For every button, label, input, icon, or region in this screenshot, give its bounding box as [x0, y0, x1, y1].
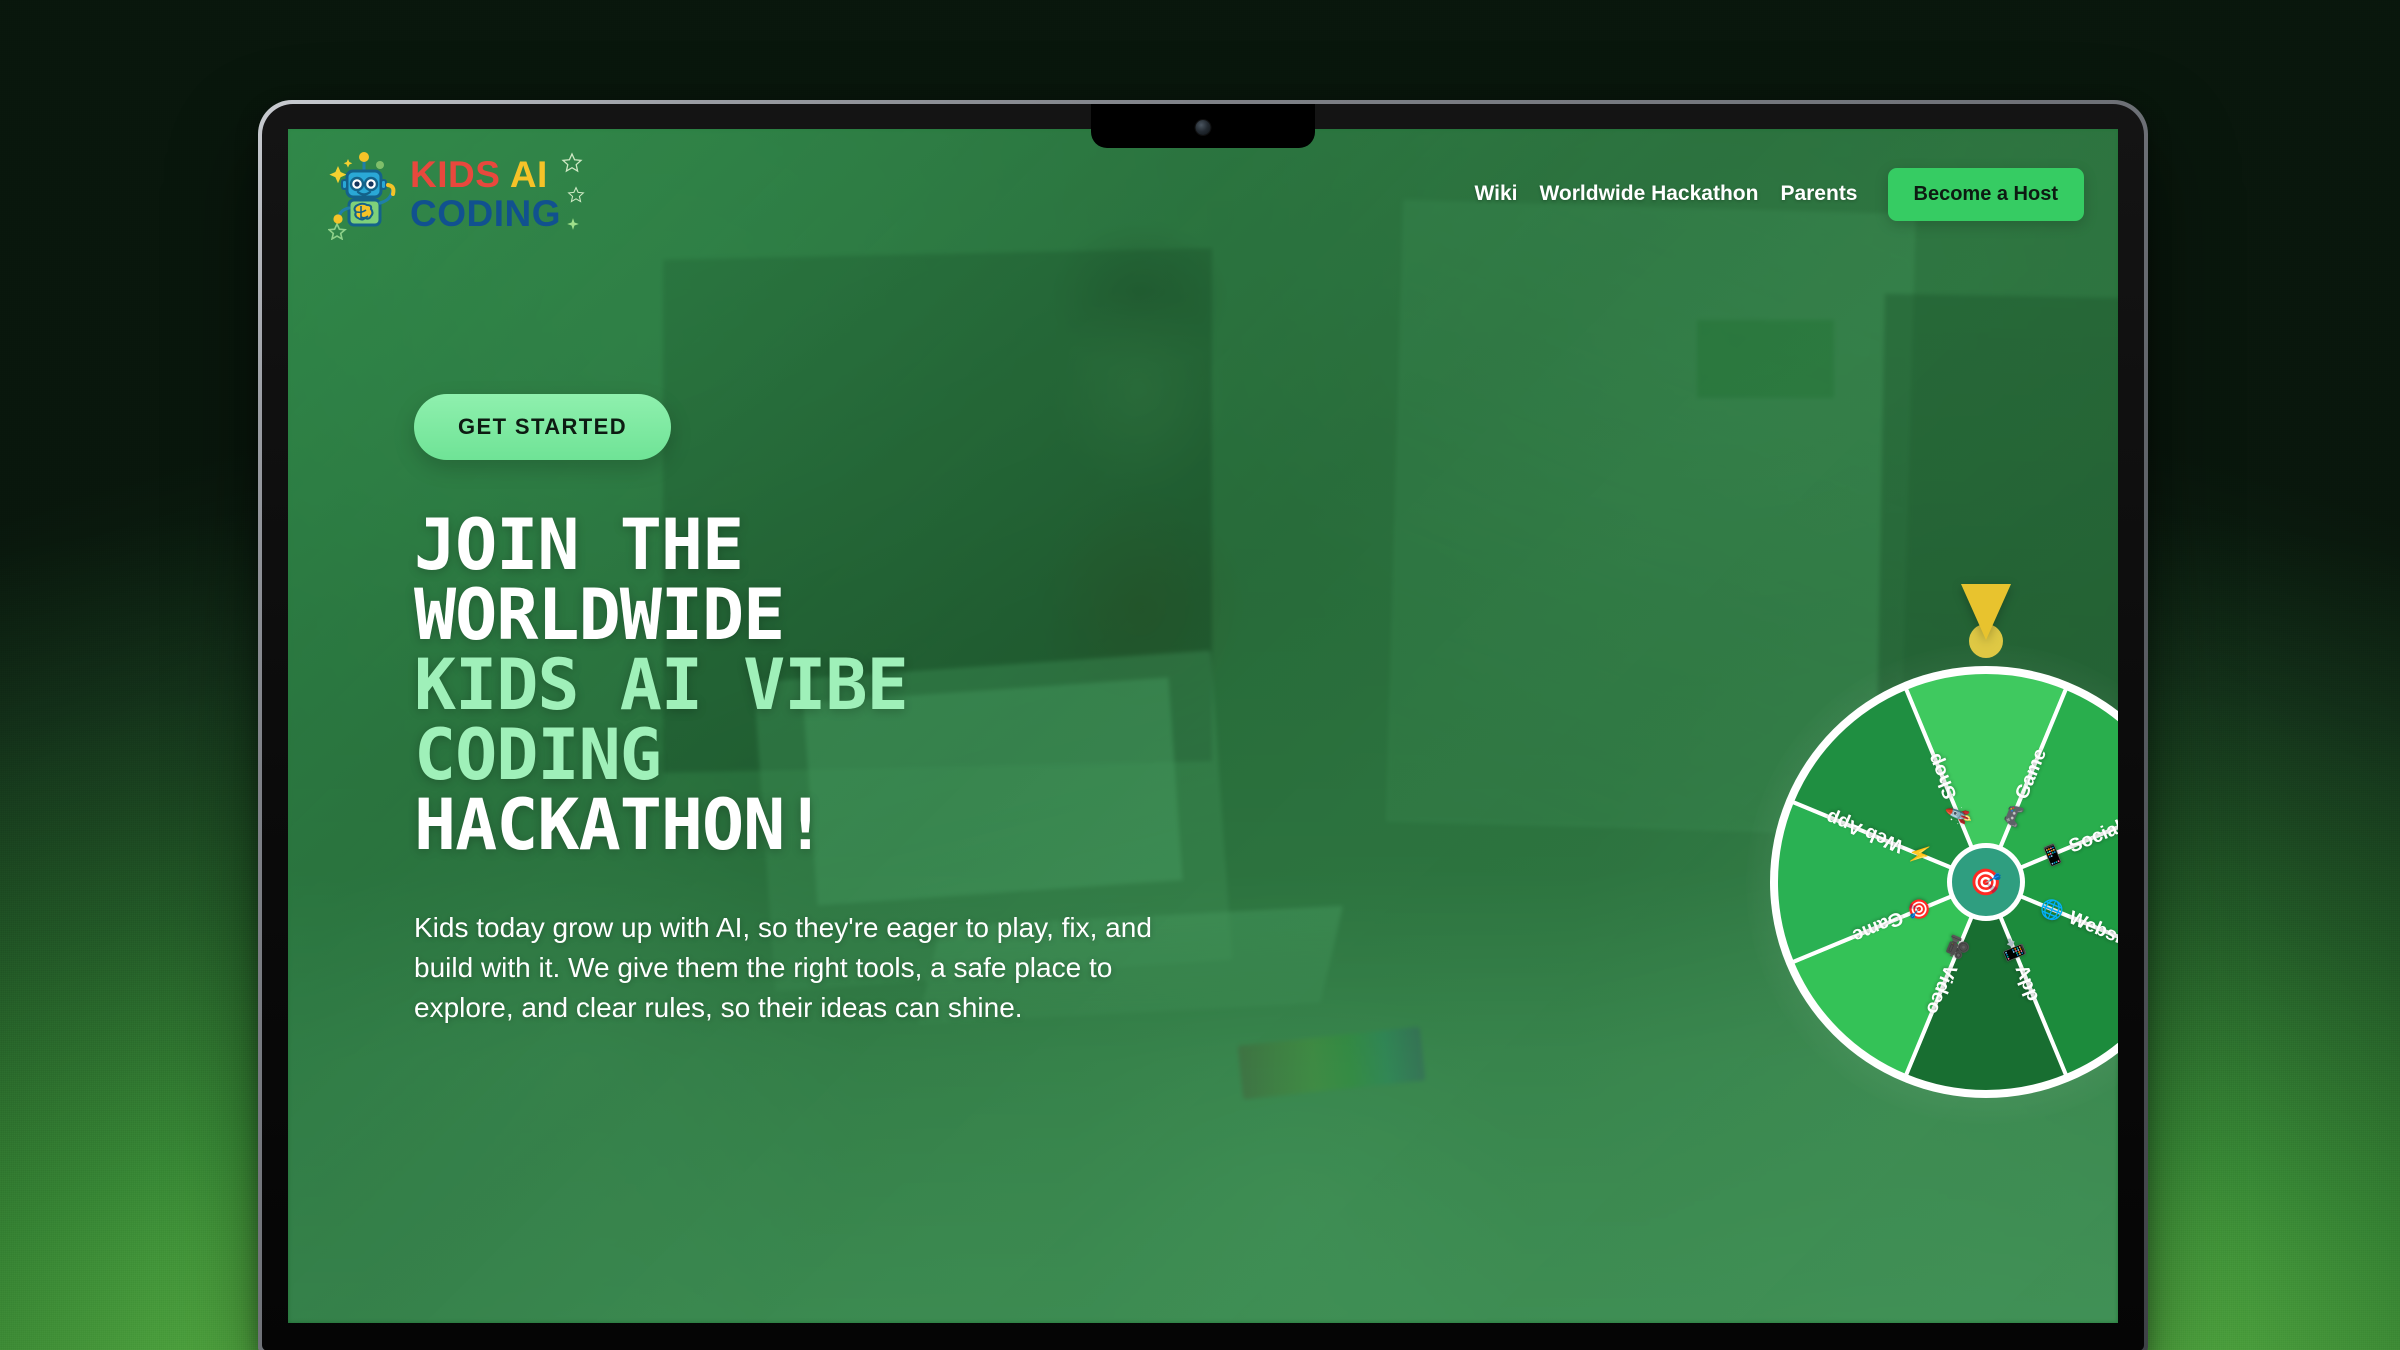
headline-line-5: HACKATHON! [414, 790, 1244, 860]
nav-link-worldwide-hackathon[interactable]: Worldwide Hackathon [1539, 182, 1758, 206]
brand-text-ai: AI [510, 154, 548, 195]
wheel-hub[interactable]: 🎯 [1947, 843, 2025, 921]
camera-dot-icon [1196, 120, 1211, 135]
nav-link-parents[interactable]: Parents [1780, 182, 1857, 206]
headline-line-2: WORLDWIDE [414, 580, 1244, 650]
laptop-notch [1091, 104, 1315, 148]
brand-text-kids: KIDS [410, 154, 500, 195]
brand-wordmark: KIDS AI CODING [410, 156, 561, 232]
wheel-segments[interactable] [1766, 662, 2118, 1102]
headline-line-3: KIDS AI VIBE [414, 650, 1244, 720]
laptop-screen: KIDS AI CODING [288, 129, 2118, 1323]
sparkle-small-icon [565, 216, 581, 232]
page-title: JOIN THE WORLDWIDE KIDS AI VIBE CODING H… [414, 510, 1244, 860]
hero-paragraph: Kids today grow up with AI, so they're e… [414, 908, 1154, 1027]
hero-section: GET STARTED JOIN THE WORLDWIDE KIDS AI V… [414, 394, 1244, 1027]
star-outline-small-icon [567, 186, 585, 204]
get-started-button[interactable]: GET STARTED [414, 394, 671, 460]
become-a-host-button[interactable]: Become a Host [1888, 168, 2085, 221]
triangle-pointer-icon [1961, 584, 2011, 640]
headline-line-4: CODING [414, 720, 1244, 790]
robot-icon [328, 148, 400, 240]
star-outline-icon [561, 152, 583, 174]
website-content: KIDS AI CODING [288, 129, 2118, 1323]
wheel-disc[interactable]: 🎮Game📱Social🌐Website📲App🎥Video🎯Game⚡Web … [1766, 662, 2118, 1102]
dart-target-icon: 🎯 [1970, 867, 2002, 898]
nav-link-wiki[interactable]: Wiki [1474, 182, 1517, 206]
spin-wheel-widget[interactable]: 🎮Game📱Social🌐Website📲App🎥Video🎯Game⚡Web … [1726, 584, 2118, 1144]
main-navigation: Wiki Worldwide Hackathon Parents Become … [1474, 168, 2084, 221]
laptop-mockup: KIDS AI CODING [258, 100, 2148, 1350]
brand-logo[interactable]: KIDS AI CODING [328, 148, 561, 240]
site-header: KIDS AI CODING [288, 129, 2118, 259]
headline-line-1: JOIN THE [414, 510, 1244, 580]
brand-text-coding: CODING [410, 193, 561, 234]
